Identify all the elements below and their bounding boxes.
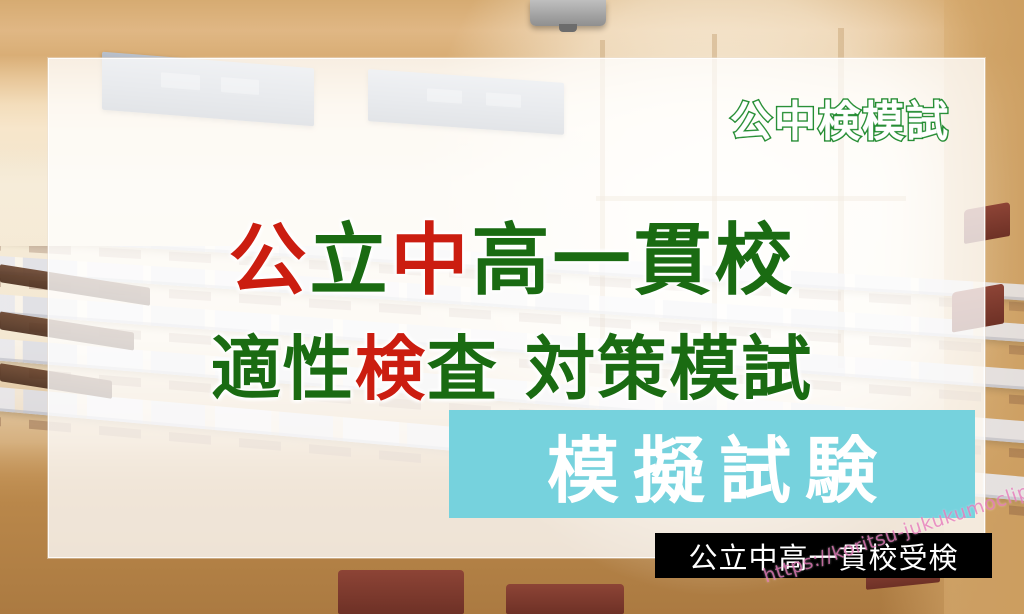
- headline-seg-chu: 中: [391, 216, 472, 306]
- headline-seg-ko: 公: [228, 216, 309, 306]
- cyan-banner-label: 模擬試験: [449, 410, 975, 518]
- eyebrow-label: 公中検模試: [730, 88, 950, 149]
- cyan-banner-band: 模擬試験: [449, 410, 975, 518]
- headline-seg-tekisei: 適性: [211, 328, 355, 410]
- banner-content: 公中検模試 公立中高一貫校 適性検査 対策模試 模擬試験 公立中高一貫校受検 h…: [0, 0, 1024, 614]
- black-banner-band: 公立中高一貫校受検: [655, 533, 992, 578]
- headline-seg-kouikkankou: 高一貫校: [472, 216, 796, 306]
- headline-seg-sa-taisaku-moshi: 査 対策模試: [427, 328, 813, 410]
- black-banner-label: 公立中高一貫校受検: [655, 533, 992, 578]
- headline-seg-ritsu: 立: [309, 216, 390, 306]
- headline-seg-ken: 検: [355, 328, 427, 410]
- headline-line-1: 公立中高一貫校: [0, 198, 1024, 310]
- headline-line-2: 適性検査 対策模試: [0, 313, 1024, 414]
